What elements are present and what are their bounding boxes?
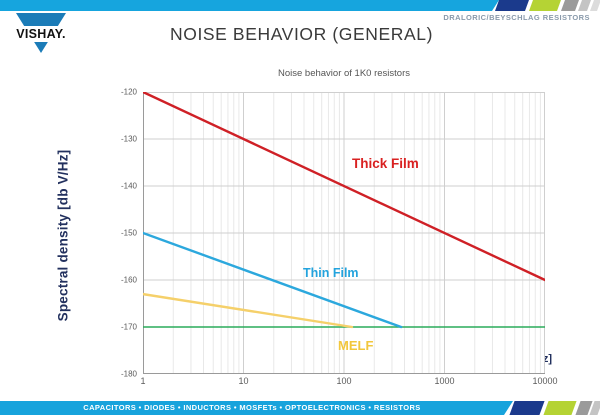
y-tick-label: -180	[121, 370, 137, 379]
header-green-parallelogram	[529, 0, 561, 11]
series-label-thick-film: Thick Film	[352, 156, 419, 171]
header-navy-parallelogram	[495, 0, 529, 11]
y-tick-label: -160	[121, 276, 137, 285]
footer-navy-parallelogram	[509, 401, 544, 415]
plot-svg	[143, 92, 545, 374]
series-label-thin-film: Thin Film	[303, 266, 359, 280]
plot-area	[143, 92, 545, 374]
footer-text: CAPACITORS • DIODES • INDUCTORS • MOSFET…	[0, 401, 504, 415]
header-gray-parallelogram-2	[578, 0, 591, 11]
header-accent-bar	[0, 0, 600, 11]
header-blue-bar	[0, 0, 492, 11]
vishay-logo-text: VISHAY.	[8, 26, 74, 42]
footer-green-parallelogram	[543, 401, 576, 415]
y-tick-label: -120	[121, 88, 137, 97]
chart-container: Noise behavior of 1K0 resistors Spectral…	[0, 60, 600, 395]
x-tick-label: 100	[336, 376, 351, 386]
x-tick-label: 10000	[532, 376, 557, 386]
y-tick-label: -130	[121, 135, 137, 144]
page-title: NOISE BEHAVIOR (GENERAL)	[170, 24, 433, 45]
footer-bar: CAPACITORS • DIODES • INDUCTORS • MOSFET…	[0, 401, 600, 415]
x-axis-tick-labels: 110100100010000	[143, 376, 545, 390]
x-tick-label: 10	[238, 376, 248, 386]
y-tick-label: -170	[121, 323, 137, 332]
y-tick-label: -150	[121, 229, 137, 238]
x-tick-label: 1000	[434, 376, 454, 386]
series-label-melf: MELF	[338, 338, 373, 353]
header-gray-parallelogram-3	[590, 0, 600, 11]
x-tick-label: 1	[140, 376, 145, 386]
chart-title: Noise behavior of 1K0 resistors	[143, 68, 545, 79]
header-gray-parallelogram	[561, 0, 579, 11]
header-subtitle: DRALORIC/BEYSCHLAG RESISTORS	[443, 13, 590, 22]
y-tick-label: -140	[121, 182, 137, 191]
vishay-logo: VISHAY.	[8, 13, 74, 55]
